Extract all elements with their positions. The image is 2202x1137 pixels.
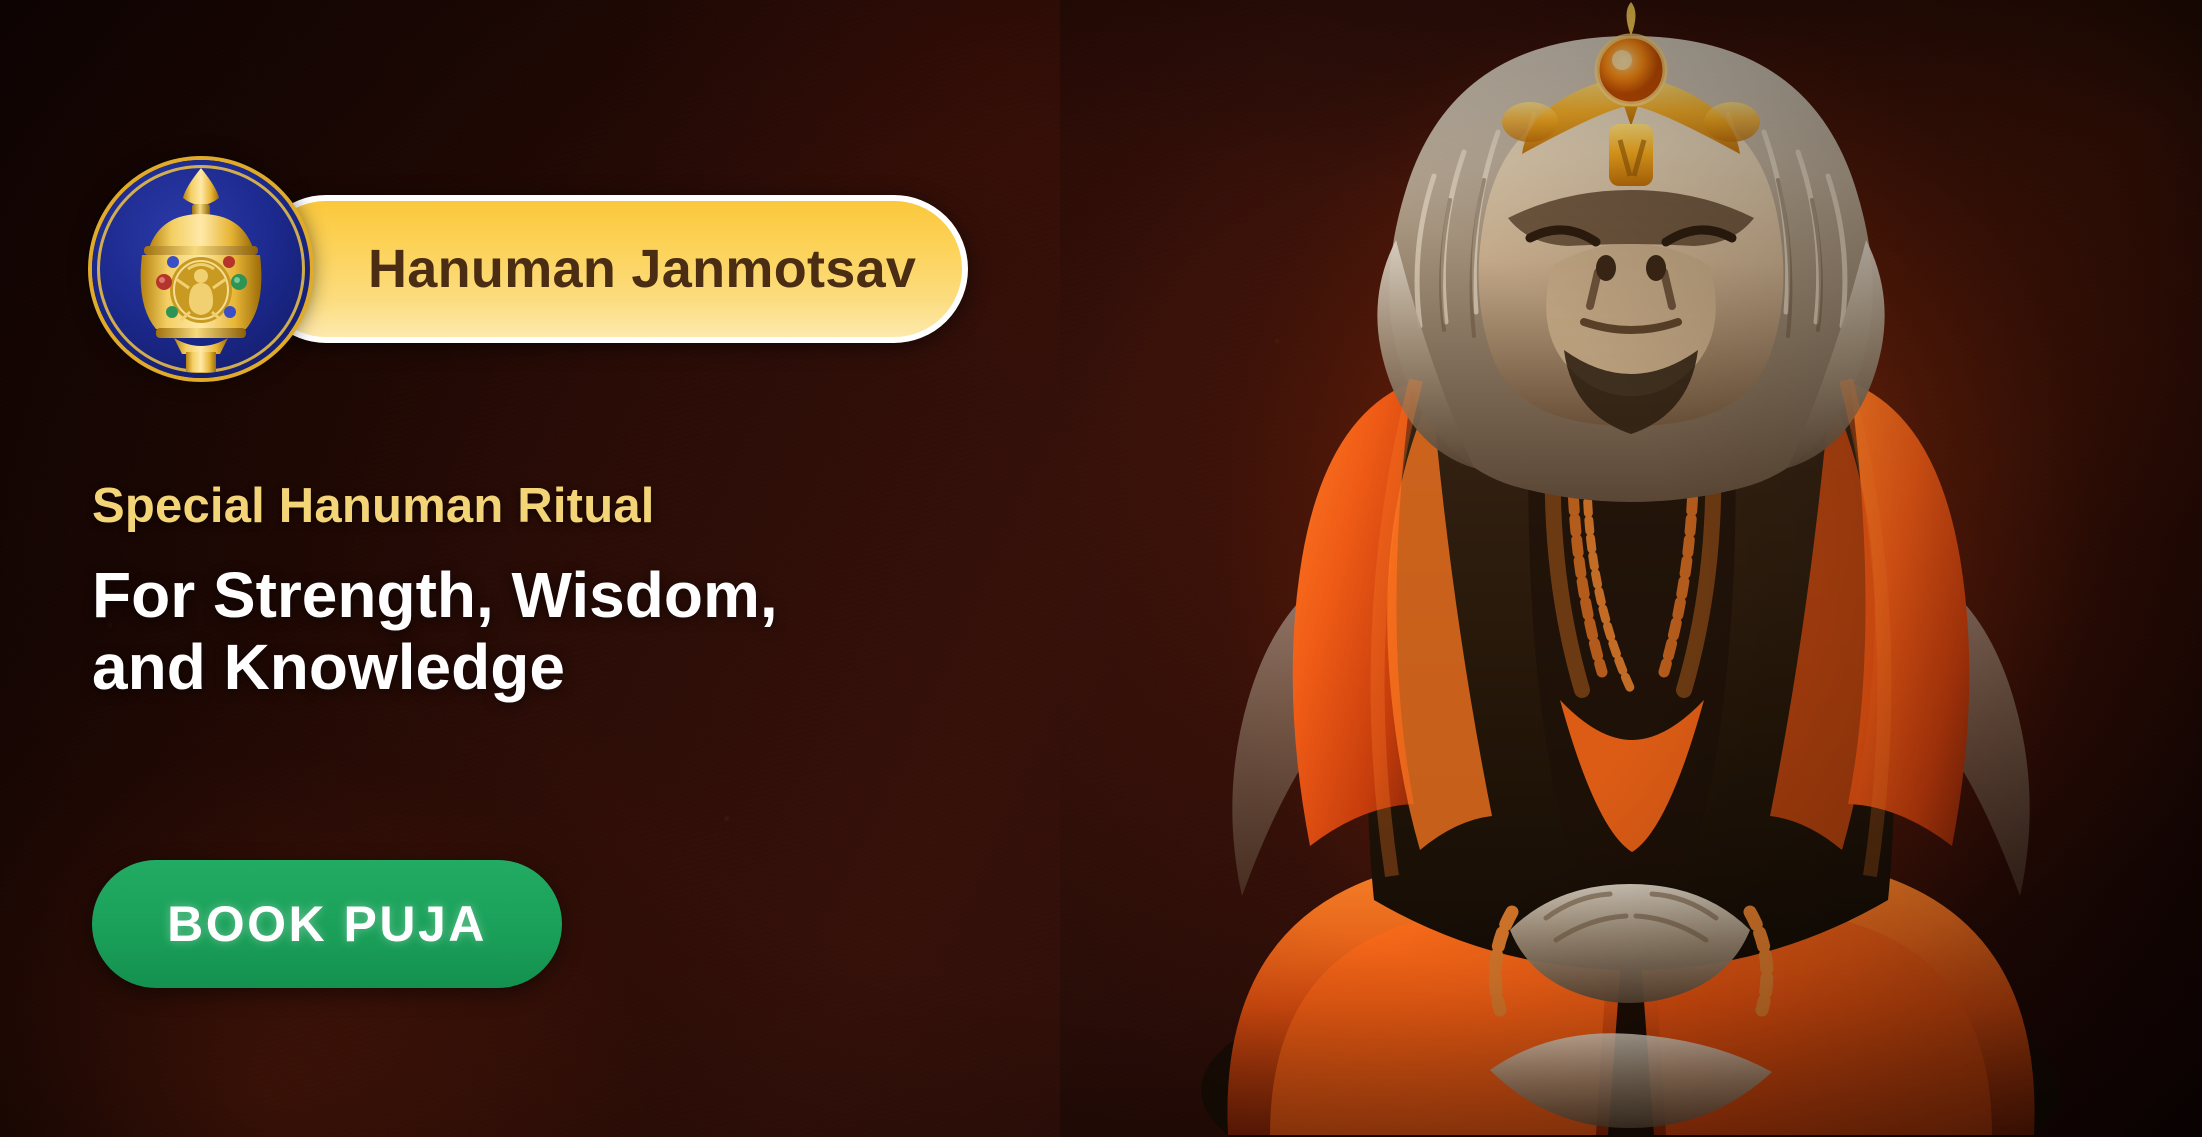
- ritual-eyebrow-text: Special Hanuman Ritual: [92, 478, 655, 534]
- promo-banner: Hanuman Janmotsav Special Hanuman Ritual…: [0, 0, 2202, 1137]
- festival-name-pill: Hanuman Janmotsav: [252, 195, 968, 343]
- banner-content: Hanuman Janmotsav Special Hanuman Ritual…: [0, 0, 1060, 1137]
- book-puja-button[interactable]: BOOK PUJA: [92, 860, 562, 988]
- festival-name-label: Hanuman Janmotsav: [368, 238, 916, 300]
- brand-row: Hanuman Janmotsav: [92, 160, 968, 378]
- page-title: For Strength, Wisdom, and Knowledge: [92, 560, 992, 703]
- headline-line-2: and Knowledge: [92, 632, 992, 704]
- gold-kalash-icon: [126, 166, 276, 372]
- festival-badge: [92, 160, 310, 378]
- headline-line-1: For Strength, Wisdom,: [92, 560, 992, 632]
